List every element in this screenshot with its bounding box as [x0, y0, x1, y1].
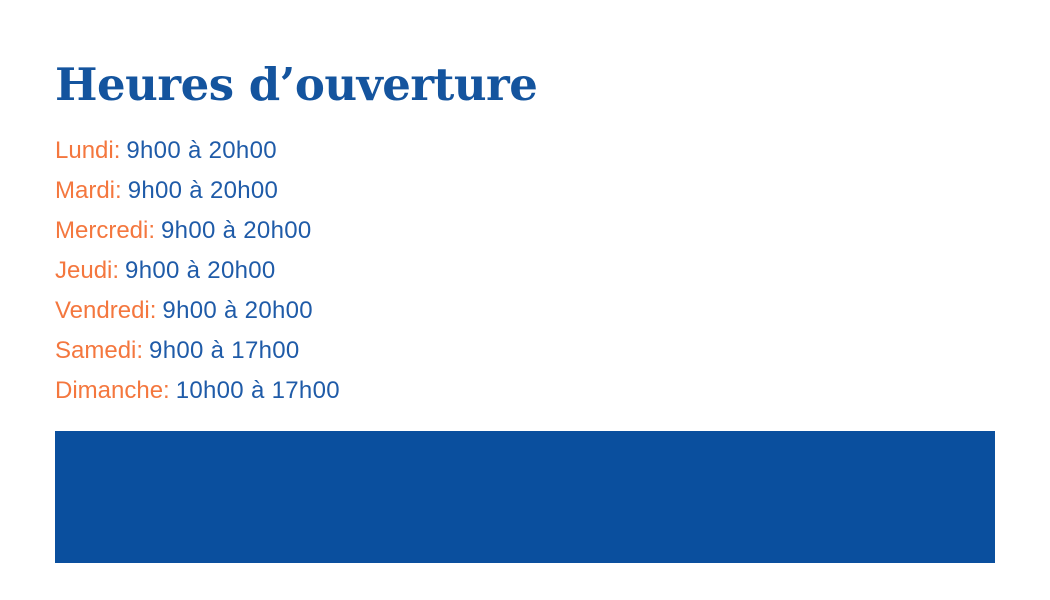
media-placeholder-block [55, 431, 995, 563]
open-time: 9h00 [162, 297, 217, 324]
open-time: 9h00 [149, 337, 204, 364]
open-time: 9h00 [125, 257, 180, 284]
day-hours: 9h00à17h00 [149, 337, 300, 364]
day-label: Samedi: [55, 337, 143, 364]
time-separator: à [204, 331, 232, 371]
slide-canvas: Heures d’ouverture Lundi:9h00à20h00 Mard… [0, 0, 1050, 600]
day-hours: 10h00à17h00 [176, 377, 340, 404]
list-item: Lundi:9h00à20h00 [55, 131, 695, 171]
close-time: 20h00 [209, 137, 277, 164]
close-time: 17h00 [231, 337, 299, 364]
close-time: 20h00 [207, 257, 275, 284]
day-label: Vendredi: [55, 297, 156, 324]
day-hours: 9h00à20h00 [125, 257, 276, 284]
day-label: Lundi: [55, 137, 120, 164]
close-time: 17h00 [272, 377, 340, 404]
close-time: 20h00 [245, 297, 313, 324]
day-hours: 9h00à20h00 [162, 297, 313, 324]
list-item: Samedi:9h00à17h00 [55, 331, 695, 371]
day-label: Jeudi: [55, 257, 119, 284]
list-item: Mardi:9h00à20h00 [55, 171, 695, 211]
close-time: 20h00 [243, 217, 311, 244]
time-separator: à [216, 211, 244, 251]
time-separator: à [182, 171, 210, 211]
day-label: Mardi: [55, 177, 122, 204]
open-time: 9h00 [126, 137, 181, 164]
time-separator: à [181, 131, 209, 171]
day-hours: 9h00à20h00 [128, 177, 279, 204]
opening-hours-list: Lundi:9h00à20h00 Mardi:9h00à20h00 Mercre… [55, 131, 695, 411]
time-separator: à [244, 371, 272, 411]
time-separator: à [180, 251, 208, 291]
open-time: 9h00 [161, 217, 216, 244]
day-label: Mercredi: [55, 217, 155, 244]
day-label: Dimanche: [55, 377, 170, 404]
page-title: Heures d’ouverture [55, 58, 537, 112]
time-separator: à [217, 291, 245, 331]
list-item: Dimanche:10h00à17h00 [55, 371, 695, 411]
list-item: Vendredi:9h00à20h00 [55, 291, 695, 331]
day-hours: 9h00à20h00 [126, 137, 277, 164]
close-time: 20h00 [210, 177, 278, 204]
day-hours: 9h00à20h00 [161, 217, 312, 244]
open-time: 10h00 [176, 377, 244, 404]
list-item: Jeudi:9h00à20h00 [55, 251, 695, 291]
open-time: 9h00 [128, 177, 183, 204]
list-item: Mercredi:9h00à20h00 [55, 211, 695, 251]
